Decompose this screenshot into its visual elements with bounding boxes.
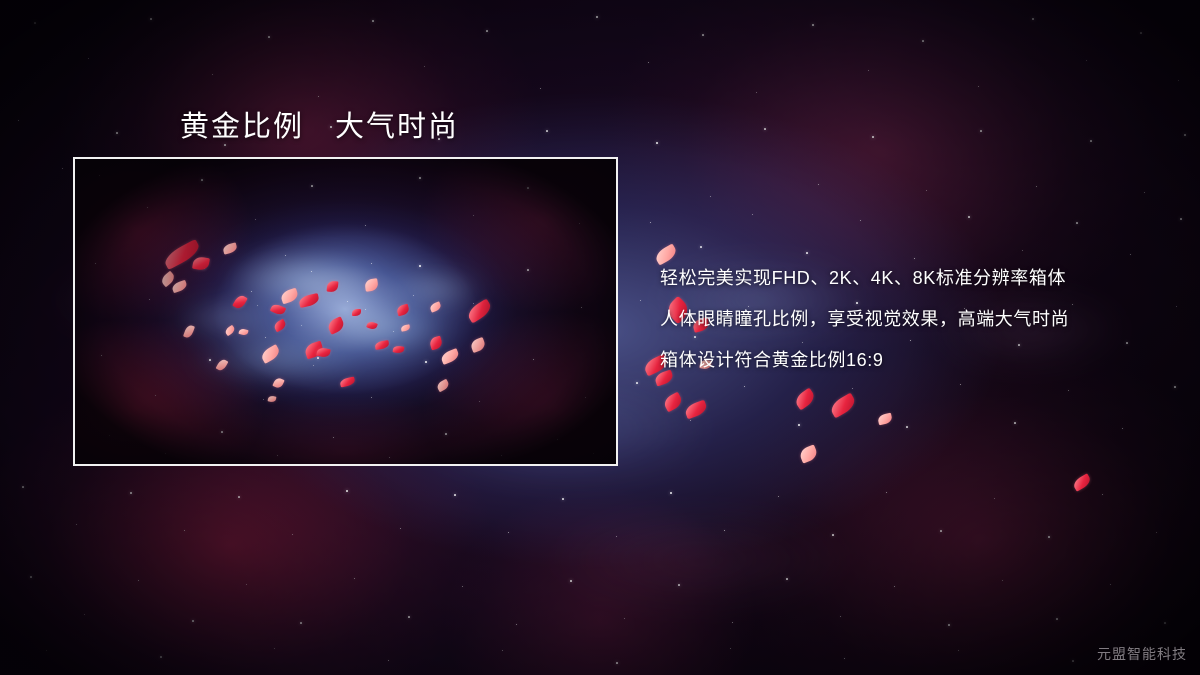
watermark-logo-text: 元盟智能科技: [1097, 644, 1187, 664]
presentation-slide: 黄金比例 大气时尚 轻松完美实现FHD、2K、4K、8K标准分辨率箱体 人体眼睛…: [0, 0, 1200, 675]
featured-image-frame[interactable]: [73, 157, 618, 466]
slide-body-copy: 轻松完美实现FHD、2K、4K、8K标准分辨率箱体 人体眼睛瞳孔比例，享受视觉效…: [660, 258, 1160, 381]
body-line-3: 箱体设计符合黄金比例16:9: [660, 340, 1160, 381]
featured-image-vignette: [75, 159, 616, 464]
body-line-1: 轻松完美实现FHD、2K、4K、8K标准分辨率箱体: [660, 258, 1160, 299]
body-line-2: 人体眼睛瞳孔比例，享受视觉效果，高端大气时尚: [660, 299, 1160, 340]
slide-title: 黄金比例 大气时尚: [180, 103, 459, 145]
